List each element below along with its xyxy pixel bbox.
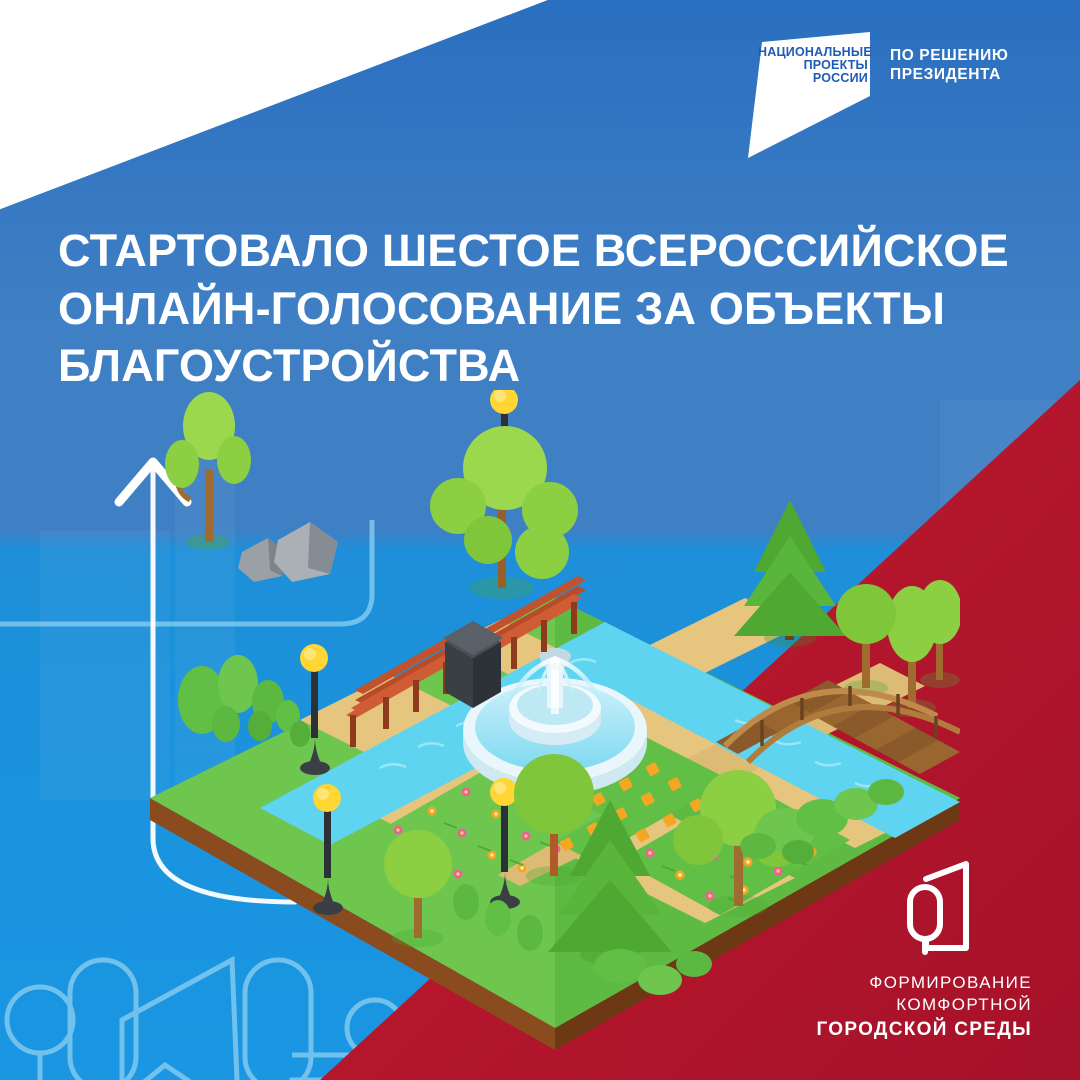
- rocks: [238, 522, 338, 582]
- title-line-2: ОНЛАЙН-ГОЛОСОВАНИЕ ЗА ОБЪЕКТЫ: [58, 280, 1028, 338]
- fkgs-logo-text: ФОРМИРОВАНИЕ КОМФОРТНОЙ ГОРОДСКОЙ СРЕДЫ: [792, 972, 1032, 1042]
- np-tagline: ПО РЕШЕНИЮ ПРЕЗИДЕНТА: [890, 47, 1008, 85]
- door-window-mark-icon: [888, 857, 980, 955]
- np-tagline-line-2: ПРЕЗИДЕНТА: [890, 66, 1008, 85]
- white-corner-diagonal: [0, 0, 598, 218]
- fkgs-line-1: ФОРМИРОВАНИЕ: [792, 972, 1032, 994]
- fkgs-logo[interactable]: ФОРМИРОВАНИЕ КОМФОРТНОЙ ГОРОДСКОЙ СРЕДЫ: [792, 857, 1032, 1042]
- poster-canvas: НАЦИОНАЛЬНЫЕ ПРОЕКТЫ РОССИИ ПО РЕШЕНИЮ П…: [0, 0, 1080, 1080]
- tree: [430, 426, 578, 599]
- national-projects-logo[interactable]: НАЦИОНАЛЬНЫЕ ПРОЕКТЫ РОССИИ ПО РЕШЕНИЮ П…: [740, 20, 1020, 160]
- conifer-tree: [734, 500, 846, 647]
- tree: [918, 580, 960, 688]
- fkgs-line-3: ГОРОДСКОЙ СРЕДЫ: [792, 1017, 1032, 1042]
- np-flag-icon: НАЦИОНАЛЬНЫЕ ПРОЕКТЫ РОССИИ: [740, 32, 870, 160]
- np-word-3: РОССИИ: [758, 72, 868, 85]
- np-logo-words: НАЦИОНАЛЬНЫЕ ПРОЕКТЫ РОССИИ: [758, 46, 868, 85]
- title-line-1: СТАРТОВАЛО ШЕСТОЕ ВСЕРОССИЙСКОЕ: [58, 222, 1028, 280]
- title-line-3: БЛАГОУСТРОЙСТВА: [58, 337, 1028, 395]
- tree: [165, 392, 251, 550]
- page-title: СТАРТОВАЛО ШЕСТОЕ ВСЕРОССИЙСКОЕ ОНЛАЙН-Г…: [58, 222, 1028, 395]
- fkgs-line-2: КОМФОРТНОЙ: [792, 994, 1032, 1016]
- trash-bin: [443, 621, 503, 708]
- shrubs: [178, 655, 310, 747]
- np-tagline-line-1: ПО РЕШЕНИЮ: [890, 47, 1008, 66]
